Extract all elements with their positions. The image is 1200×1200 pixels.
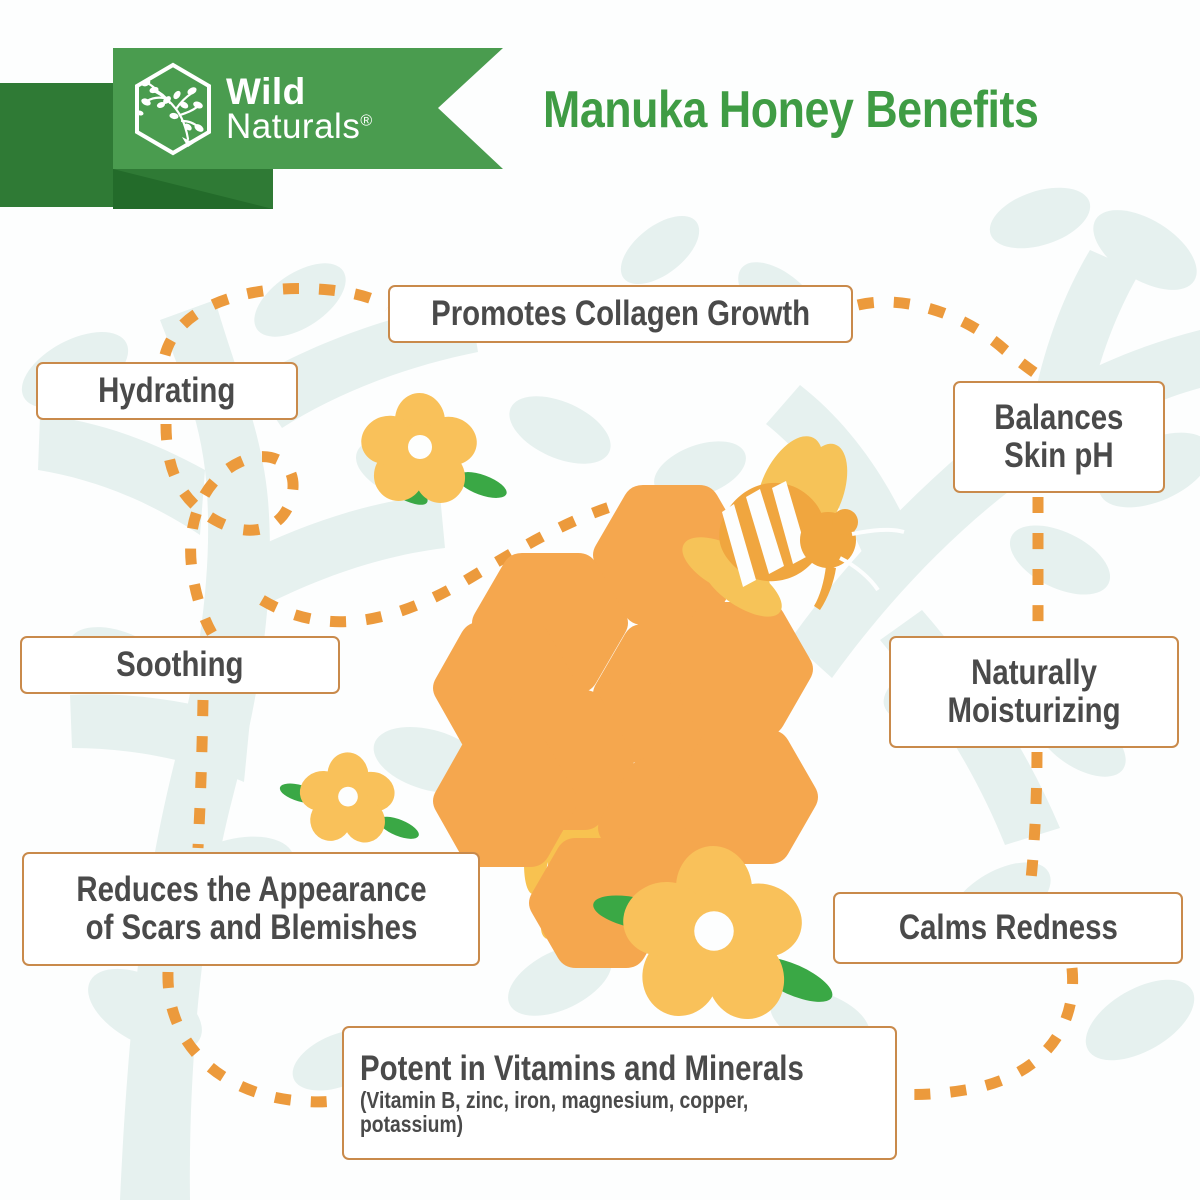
benefit-label: Potent in Vitamins and Minerals [360,1050,804,1088]
brand-line-2: Naturals® [226,110,373,145]
flower-icon [278,750,422,847]
registered-mark: ® [360,113,372,130]
benefit-label: Calms Redness [899,909,1118,947]
brand-logo: Wild Naturals® [130,56,420,161]
page-title: Manuka Honey Benefits [543,80,1085,140]
benefit-box-soothing[interactable]: Soothing [20,636,340,694]
benefit-box-calms-redness[interactable]: Calms Redness [833,892,1183,964]
benefit-box-potent-in-vitamins-and-minerals[interactable]: Potent in Vitamins and Minerals (Vitamin… [342,1026,897,1160]
benefit-box-balances-skin-ph[interactable]: Balances Skin pH [953,381,1165,493]
ribbon-fold [113,169,273,209]
brand-wordmark: Wild Naturals® [226,72,373,145]
benefit-label: Naturally Moisturizing [947,654,1120,730]
honey-drip [524,780,700,956]
flower-icon [590,842,838,1027]
benefit-label: Hydrating [98,372,235,410]
flower-icon [355,391,510,511]
benefit-sublabel: (Vitamin B, zinc, iron, magnesium, coppe… [360,1088,748,1137]
benefit-box-reduces-scars-and-blemishes[interactable]: Reduces the Appearance of Scars and Blem… [22,852,480,966]
honeycomb-hexagons [433,485,818,968]
bee-icon [673,426,904,629]
benefit-box-hydrating[interactable]: Hydrating [36,362,298,420]
benefit-box-promotes-collagen[interactable]: Promotes Collagen Growth [388,285,853,343]
hexagon-tree-icon [130,61,216,157]
benefit-label: Reduces the Appearance of Scars and Blem… [76,871,426,947]
benefit-box-naturally-moisturizing[interactable]: Naturally Moisturizing [889,636,1179,748]
benefit-label: Balances Skin pH [994,399,1123,475]
infographic-canvas: Wild Naturals® Manuka Honey Benefits [0,0,1200,1200]
benefit-label: Soothing [116,646,243,684]
benefit-label: Promotes Collagen Growth [431,295,810,333]
brand-line-1: Wild [226,74,373,111]
